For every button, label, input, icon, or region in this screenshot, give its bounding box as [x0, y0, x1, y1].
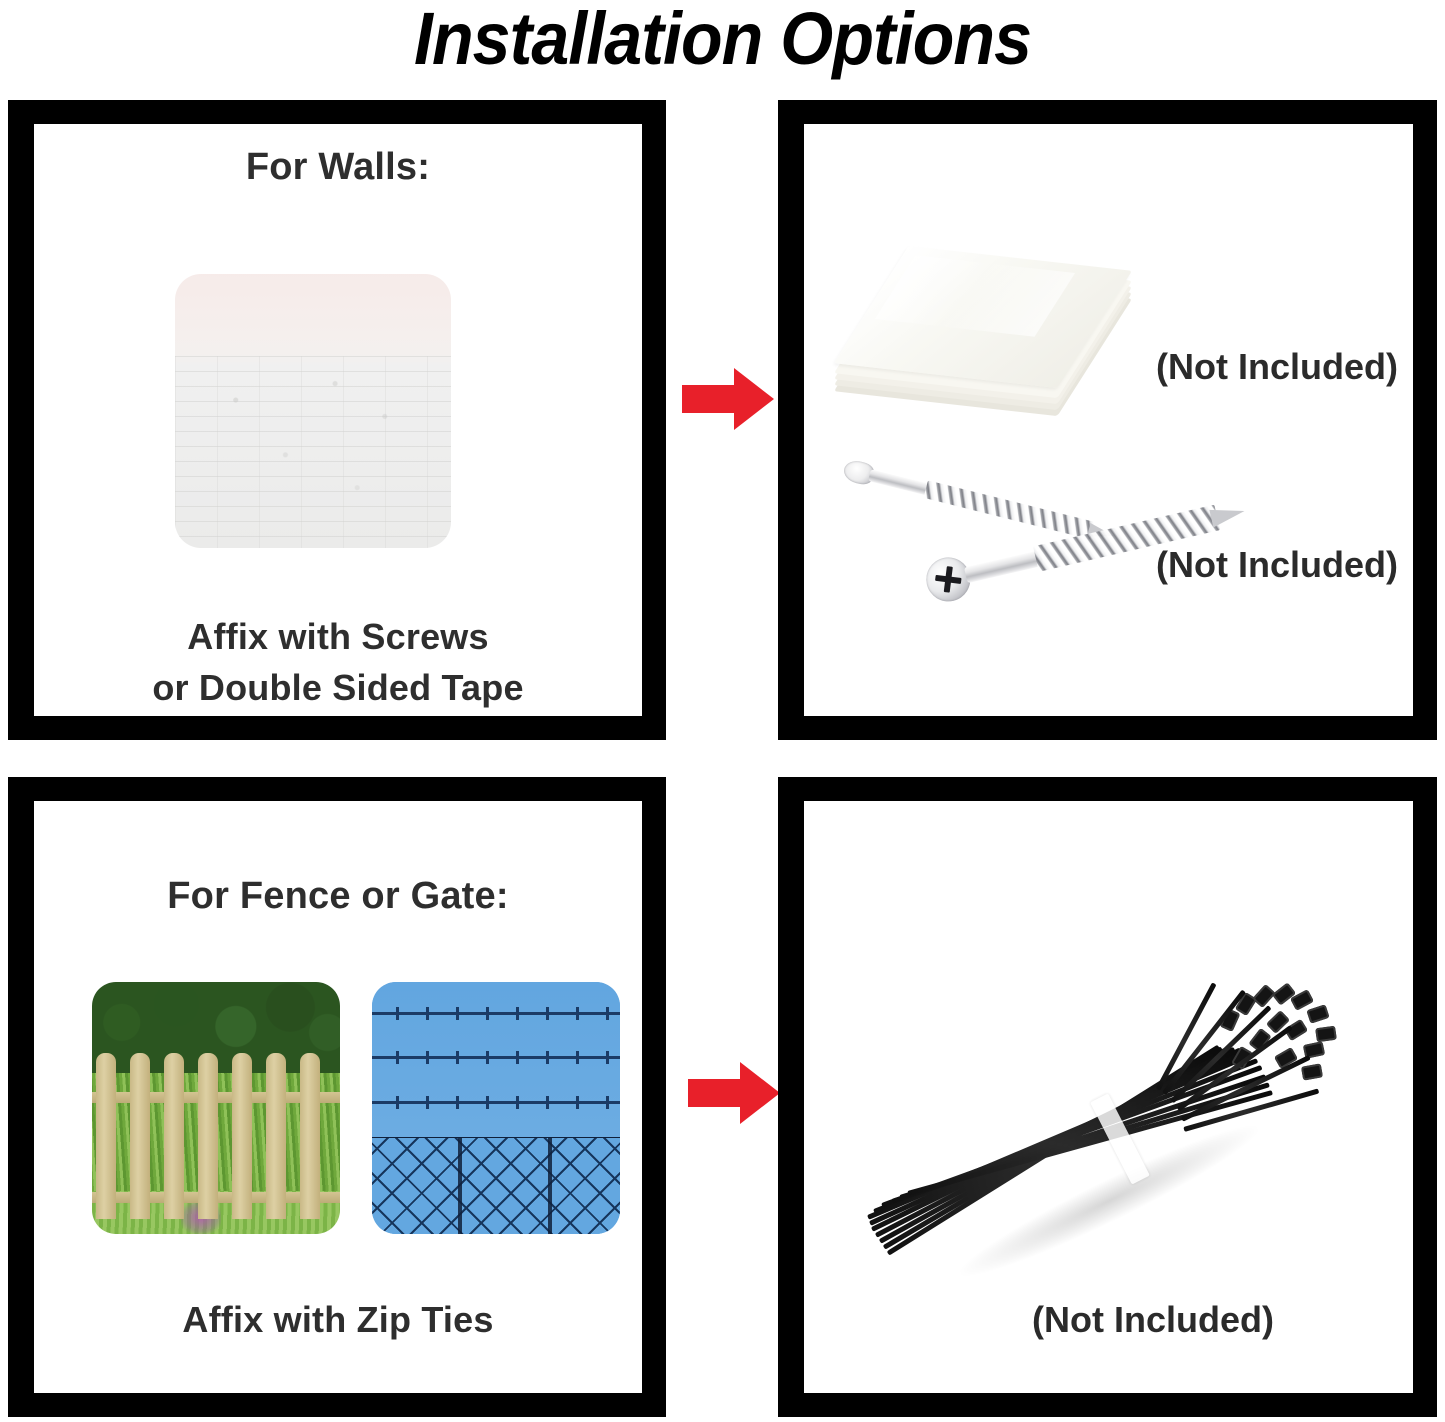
zip-tie-head	[1301, 1063, 1323, 1080]
fence-picket	[164, 1053, 184, 1219]
for-fence-heading: For Fence or Gate:	[34, 875, 642, 918]
tape-not-included-label: (Not Included)	[1156, 346, 1398, 388]
barbed-wire-barbs	[372, 1096, 620, 1109]
fence-picket	[96, 1053, 116, 1219]
fence-picket	[130, 1053, 150, 1219]
zip-ties-not-included-label: (Not Included)	[1032, 1299, 1274, 1341]
chain-link-fence-photo	[372, 982, 620, 1234]
wall-speckle-texture	[175, 274, 451, 548]
wooden-picket-fence-photo	[92, 982, 340, 1234]
for-walls-heading: For Walls:	[34, 146, 642, 189]
for-walls-caption-line-1: Affix with Screws	[34, 616, 642, 658]
panel-for-fence-or-gate: For Fence or Gate:	[8, 777, 666, 1417]
panel-zip-ties-content: (Not Included)	[804, 801, 1413, 1393]
for-walls-caption-line-2: or Double Sided Tape	[34, 667, 642, 709]
panel-for-fence-content: For Fence or Gate:	[34, 801, 642, 1393]
fence-picket	[232, 1053, 252, 1219]
panel-for-walls: For Walls: Affix with Screws or Double S…	[8, 100, 666, 740]
red-right-arrow-top	[682, 368, 774, 430]
red-right-arrow-bottom	[688, 1062, 780, 1124]
panel-for-walls-content: For Walls: Affix with Screws or Double S…	[34, 124, 642, 716]
fence-posts	[372, 1138, 620, 1234]
panel-hardware: (Not Included) (Not Included)	[778, 100, 1437, 740]
fence-pickets	[92, 1053, 340, 1219]
panel-hardware-content: (Not Included) (Not Included)	[804, 124, 1413, 716]
fence-picket	[300, 1053, 320, 1219]
screw-shank	[964, 550, 1044, 583]
for-fence-caption: Affix with Zip Ties	[34, 1299, 642, 1341]
screws-not-included-label: (Not Included)	[1156, 544, 1398, 586]
screw-tip	[1209, 502, 1246, 527]
zip-tie-head	[1306, 1004, 1329, 1023]
barbed-wire-barbs	[372, 1007, 620, 1020]
panel-zip-ties: (Not Included)	[778, 777, 1437, 1417]
fence-picket	[266, 1053, 286, 1219]
page-title: Installation Options	[58, 0, 1387, 81]
zip-tie-head	[1315, 1026, 1337, 1043]
fence-picket	[198, 1053, 218, 1219]
screw-shank	[868, 469, 931, 496]
black-zip-tie-bundle	[864, 941, 1344, 1341]
barbed-wire-barbs	[372, 1051, 620, 1064]
white-brick-wall-swatch	[175, 274, 451, 548]
double-sided-tape-stack	[864, 228, 1134, 418]
